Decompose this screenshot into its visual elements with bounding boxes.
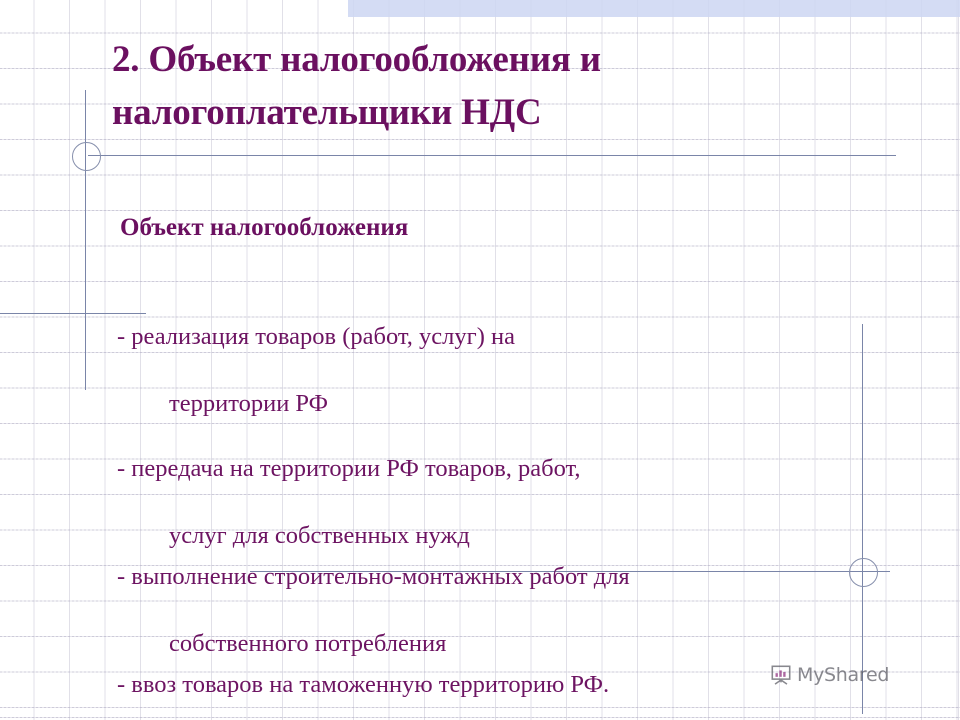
presentation-easel-icon xyxy=(770,664,792,686)
slide-canvas: 2. Объект налогообложения и налогоплател… xyxy=(0,0,960,720)
bullet-line-primary: - реализация товаров (работ, услуг) на xyxy=(117,320,817,354)
body-subheading: Объект налогообложения xyxy=(120,213,408,243)
myshared-watermark: MyShared xyxy=(770,664,889,686)
bullet-line-primary: - передача на территории РФ товаров, раб… xyxy=(117,452,907,486)
slide-body: Объект налогообложения - реализация това… xyxy=(0,0,960,720)
bullet-line-secondary: территории РФ xyxy=(117,387,817,421)
bullet-line-primary: - выполнение строительно-монтажных работ… xyxy=(117,560,927,594)
watermark-label: MyShared xyxy=(797,666,889,685)
